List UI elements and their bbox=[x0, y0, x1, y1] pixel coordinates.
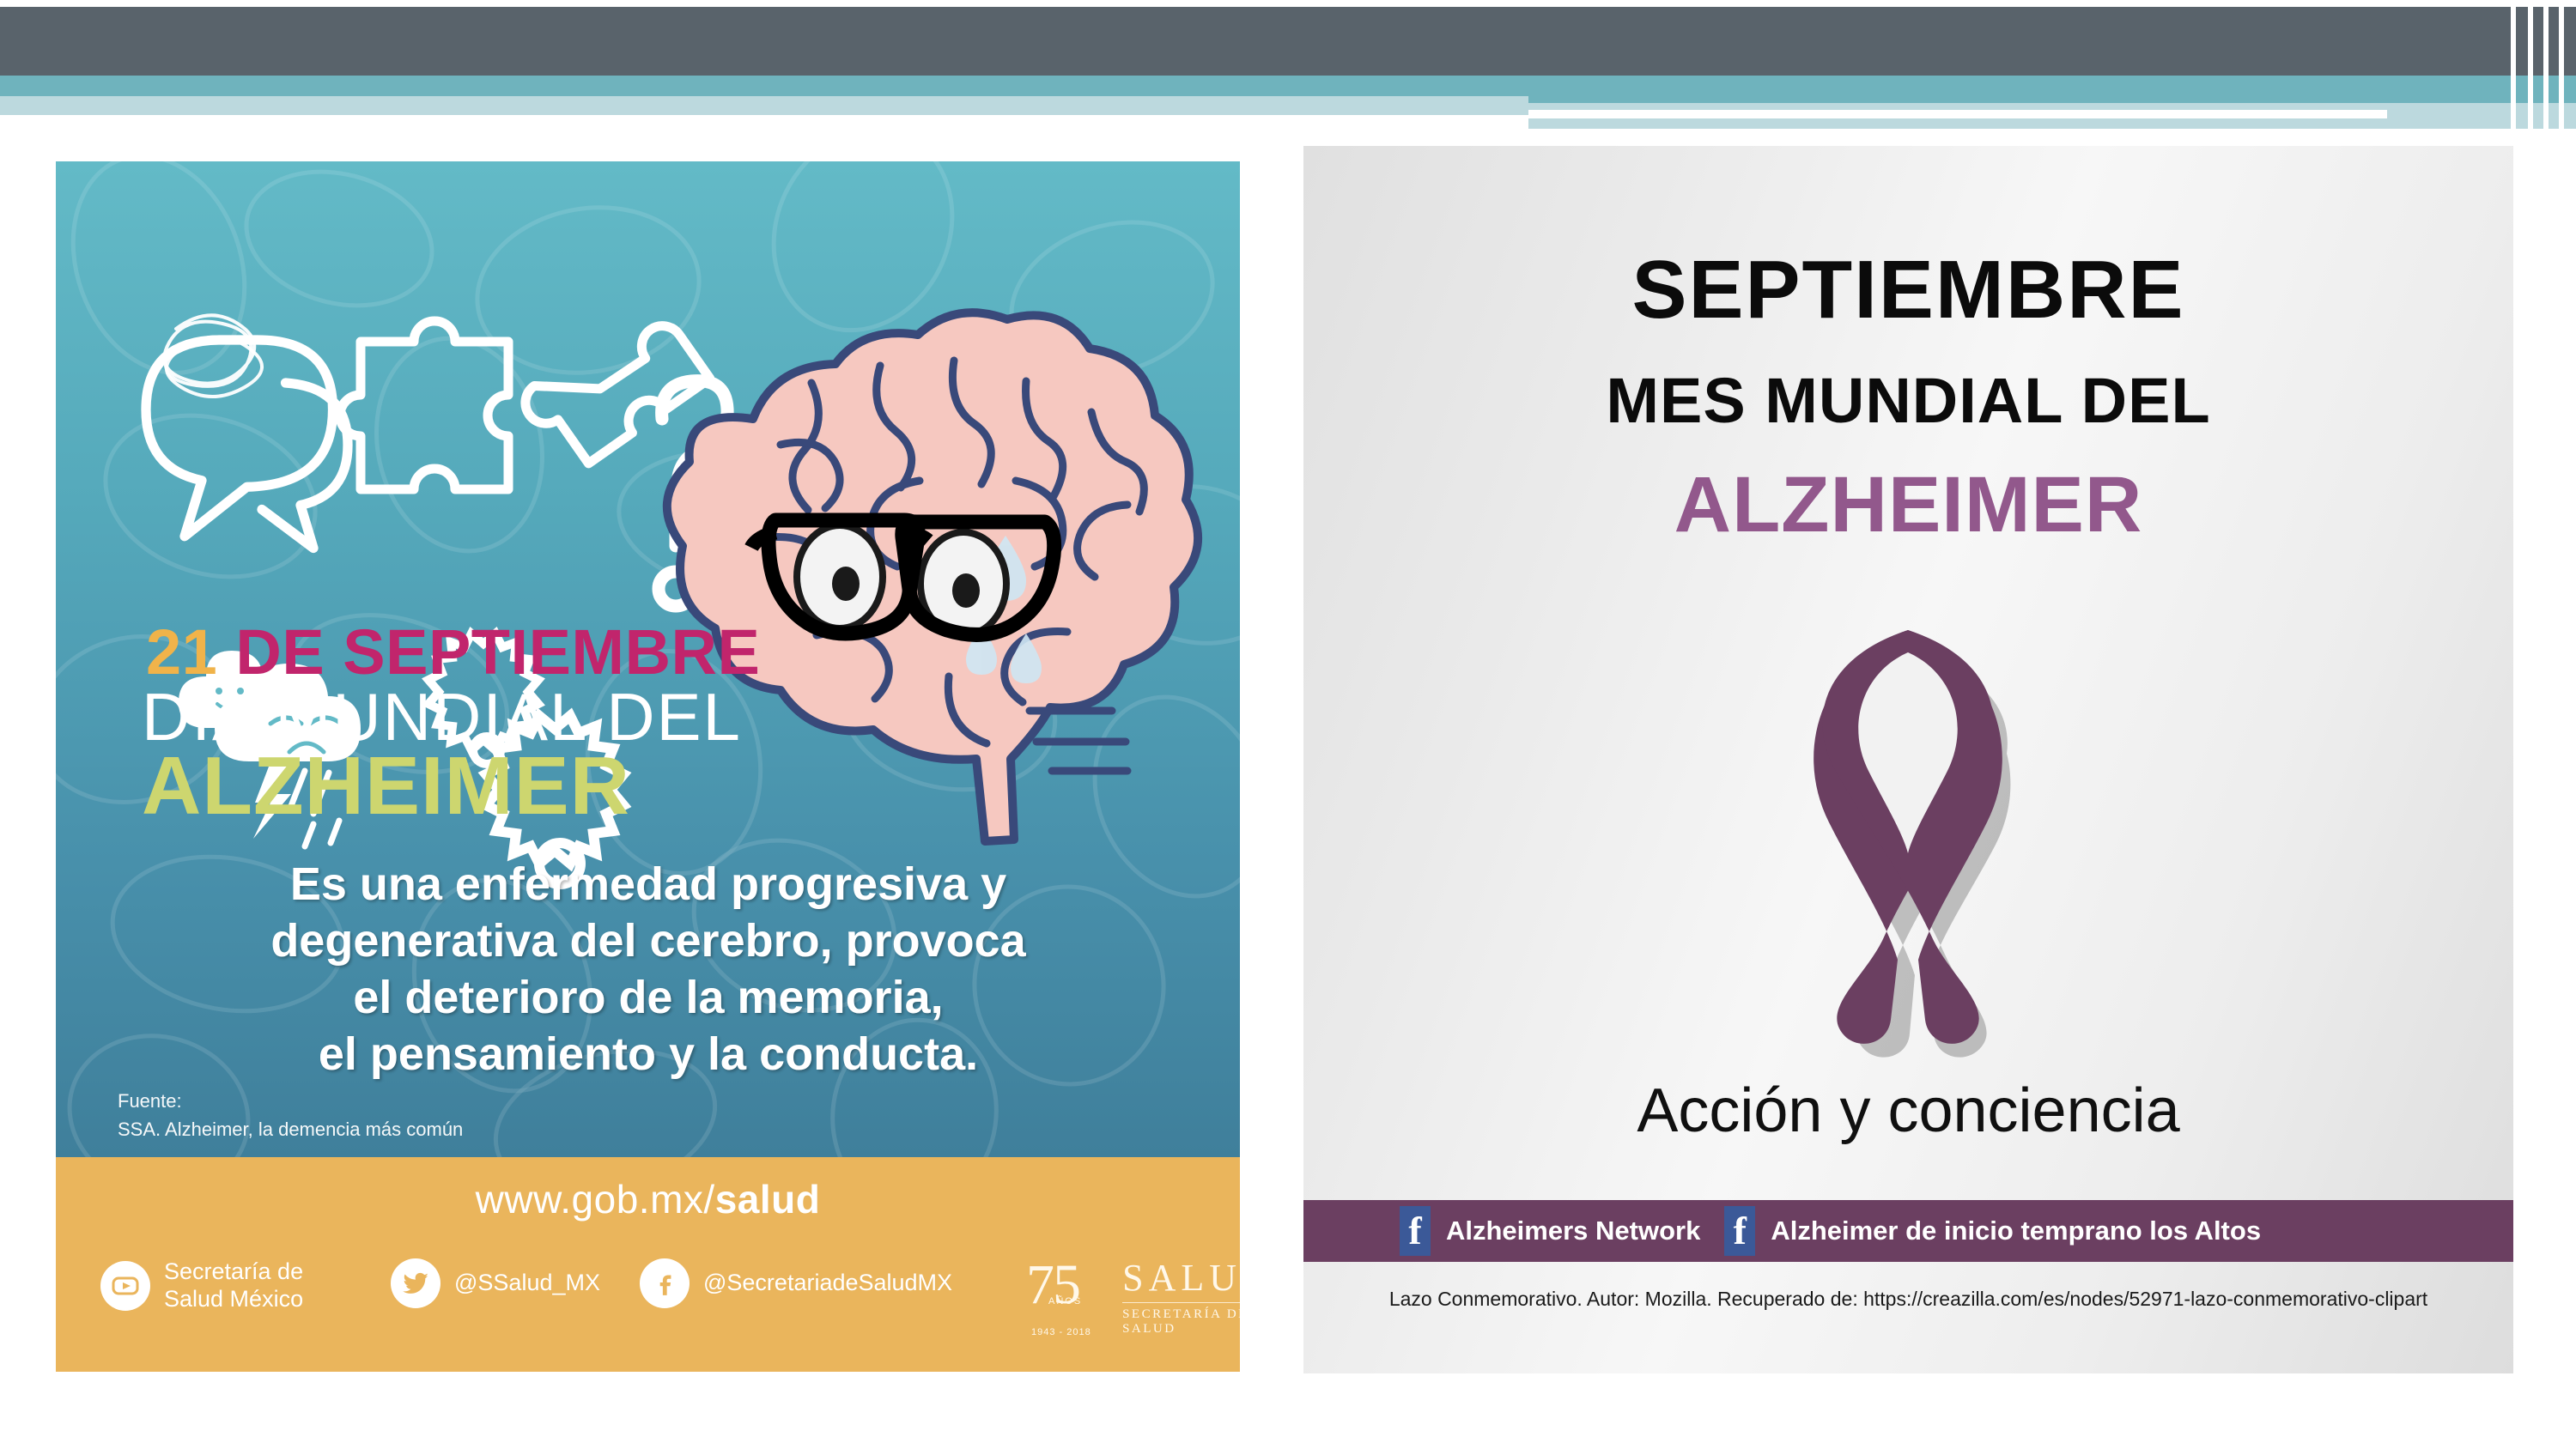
source-text: SSA. Alzheimer, la demencia más común bbox=[118, 1115, 463, 1143]
poster-left-body-line-2: degenerativa del cerebro, provoca bbox=[107, 913, 1189, 970]
header-vertical-slit-4 bbox=[2559, 7, 2564, 141]
source-label: Fuente: bbox=[118, 1087, 463, 1115]
social-link-twitter[interactable]: @SSalud_MX bbox=[391, 1258, 600, 1308]
twitter-icon bbox=[391, 1258, 440, 1308]
poster-left-month-label: DE SEPTIEMBRE bbox=[235, 616, 760, 688]
youtube-label-line1: Secretaría de bbox=[164, 1258, 303, 1284]
url-path: salud bbox=[715, 1177, 821, 1222]
anniversary-word: AÑOS bbox=[1048, 1296, 1082, 1307]
poster-mes-mundial-alzheimer[interactable]: SEPTIEMBRE MES MUNDIAL DEL ALZHEIMER Acc… bbox=[1303, 146, 2513, 1373]
anniversary-years: 1943 - 2018 bbox=[1031, 1327, 1091, 1337]
header-vertical-slit-1 bbox=[2511, 7, 2516, 141]
facebook-link-alzheimers-network[interactable]: f Alzheimers Network bbox=[1400, 1206, 1700, 1256]
header-vertical-slit-2 bbox=[2528, 7, 2533, 141]
brain-with-glasses-illustration bbox=[667, 312, 1198, 841]
poster-left-body-line-3: el deterioro de la memoria, bbox=[107, 970, 1189, 1027]
social-label-youtube: Secretaría de Salud México bbox=[164, 1258, 303, 1313]
facebook-label-1: Alzheimers Network bbox=[1446, 1216, 1700, 1246]
social-label-twitter: @SSalud_MX bbox=[454, 1270, 600, 1297]
header-vertical-slit-3 bbox=[2543, 7, 2549, 141]
slide-canvas: 21 DE SEPTIEMBRE DÍA MUNDIAL DEL ALZHEIM… bbox=[0, 129, 2576, 1449]
facebook-f-glyph: f bbox=[1734, 1211, 1747, 1251]
anniversary-75-mark: 75 AÑOS 1943 - 2018 bbox=[1026, 1257, 1107, 1339]
salud-logo-group: 75 AÑOS 1943 - 2018 SALUD SECRETARÍA DE … bbox=[1026, 1257, 1240, 1339]
poster-left-title: ALZHEIMER bbox=[142, 745, 630, 828]
facebook-link-alzheimer-inicio-temprano[interactable]: f Alzheimer de inicio temprano los Altos bbox=[1724, 1206, 2261, 1256]
header-white-slot-upper bbox=[1528, 110, 2387, 118]
salud-wordmark: SALUD SECRETARÍA DE SALUD bbox=[1122, 1259, 1240, 1337]
poster-left-body-copy: Es una enfermedad progresiva y degenerat… bbox=[107, 857, 1189, 1083]
social-label-facebook: @SecretariadeSaludMX bbox=[703, 1270, 952, 1297]
social-link-facebook[interactable]: @SecretariadeSaludMX bbox=[640, 1258, 952, 1308]
poster-right-subtitle: MES MUNDIAL DEL bbox=[1303, 369, 2513, 433]
image-attribution-caption: Lazo Conmemorativo. Autor: Mozilla. Recu… bbox=[1303, 1288, 2513, 1311]
salud-rule bbox=[1122, 1302, 1240, 1303]
url-domain: www.gob.mx/ bbox=[476, 1177, 715, 1222]
poster-left-day-number: 21 bbox=[146, 616, 217, 688]
salud-name: SALUD bbox=[1122, 1259, 1240, 1297]
poster-left-body-line-4: el pensamiento y la conducta. bbox=[107, 1027, 1189, 1083]
poster-right-tagline: Acción y conciencia bbox=[1303, 1080, 2513, 1142]
tangled-thought-speech-bubble-icon bbox=[146, 315, 348, 548]
poster-right-footer: f Alzheimers Network f Alzheimer de inic… bbox=[1303, 1200, 2513, 1262]
youtube-label-line2: Salud México bbox=[164, 1286, 303, 1312]
header-dark-band bbox=[0, 7, 2576, 76]
facebook-icon bbox=[640, 1258, 690, 1308]
header-pale-band-left bbox=[0, 96, 1528, 115]
website-url[interactable]: www.gob.mx/salud bbox=[56, 1176, 1240, 1222]
poster-left-body-line-1: Es una enfermedad progresiva y bbox=[107, 857, 1189, 913]
salud-subtitle: SECRETARÍA DE SALUD bbox=[1122, 1307, 1240, 1337]
poster-right-month: SEPTIEMBRE bbox=[1303, 249, 2513, 331]
youtube-icon bbox=[100, 1261, 150, 1311]
slide-header-decoration bbox=[0, 0, 2576, 129]
poster-left-source: Fuente: SSA. Alzheimer, la demencia más … bbox=[118, 1087, 463, 1143]
poster-right-title: ALZHEIMER bbox=[1303, 465, 2513, 544]
poster-left-date-line: 21 DE SEPTIEMBRE bbox=[146, 621, 1240, 684]
facebook-icon: f bbox=[1400, 1206, 1431, 1256]
facebook-icon: f bbox=[1724, 1206, 1755, 1256]
facebook-label-2: Alzheimer de inicio temprano los Altos bbox=[1771, 1216, 2261, 1246]
purple-awareness-ribbon-icon bbox=[1303, 609, 2513, 1073]
poster-left-footer: www.gob.mx/salud Secretaría de Salud Méx… bbox=[56, 1157, 1240, 1372]
social-link-youtube[interactable]: Secretaría de Salud México bbox=[100, 1258, 303, 1313]
poster-dia-mundial-alzheimer[interactable]: 21 DE SEPTIEMBRE DÍA MUNDIAL DEL ALZHEIM… bbox=[56, 161, 1240, 1372]
facebook-f-glyph: f bbox=[1408, 1211, 1421, 1251]
